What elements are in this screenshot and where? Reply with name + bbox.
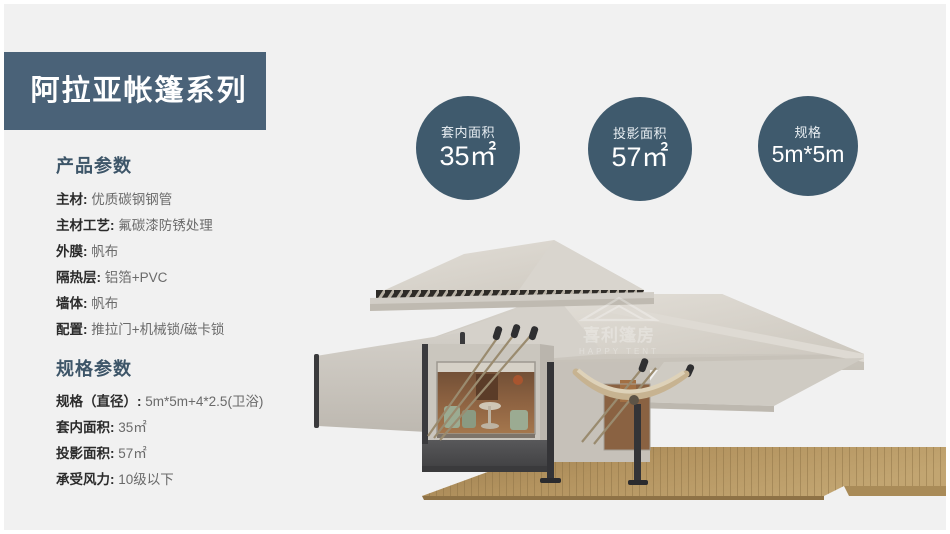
tent-upper-roof-cap [370, 240, 654, 311]
stat-label: 投影面积 [613, 127, 667, 141]
stat-badge-interior-area: 套内面积 35㎡ [416, 96, 520, 200]
spec-value: 帆布 [91, 244, 118, 259]
spec-label: 配置: [56, 322, 88, 337]
spec-label: 规格（直径）: [56, 394, 142, 409]
spec-value: 铝箔+PVC [105, 270, 168, 285]
spec-value: 57㎡ [118, 446, 147, 461]
stat-label: 套内面积 [441, 126, 495, 140]
stat-value: 35㎡ [439, 142, 496, 170]
spec-value: 帆布 [91, 296, 118, 311]
spec-value: 推拉门+机械锁/磁卡锁 [91, 322, 224, 337]
spec-value: 优质碳钢钢管 [91, 192, 172, 207]
stat-value: 57㎡ [611, 143, 668, 171]
stat-badge-projected-area: 投影面积 57㎡ [588, 97, 692, 201]
slide-canvas: 阿拉亚帐篷系列 产品参数 主材: 优质碳钢钢管 主材工艺: 氟碳漆防锈处理 外膜… [0, 0, 950, 534]
spec-label: 承受风力: [56, 472, 115, 487]
spec-label: 外膜: [56, 244, 88, 259]
spec-label: 主材工艺: [56, 218, 115, 233]
spec-value: 35㎡ [118, 420, 147, 435]
stat-label: 规格 [794, 126, 821, 140]
stat-badge-dimensions: 规格 5m*5m [758, 96, 858, 196]
spec-label: 墙体: [56, 296, 88, 311]
page-title: 阿拉亚帐篷系列 [30, 77, 247, 106]
spec-value: 氟碳漆防锈处理 [118, 218, 213, 233]
tent-render-image [304, 234, 950, 524]
spec-label: 套内面积: [56, 420, 115, 435]
spec-label: 投影面积: [56, 446, 115, 461]
product-section-heading: 产品参数 [56, 156, 356, 178]
spec-label: 主材: [56, 192, 88, 207]
title-banner: 阿拉亚帐篷系列 [4, 52, 266, 130]
stone-base [422, 440, 554, 472]
spec-label: 隔热层: [56, 270, 101, 285]
spec-value: 5m*5m+4*2.5(卫浴) [145, 394, 263, 409]
spec-value: 10级以下 [118, 472, 174, 487]
list-item: 主材: 优质碳钢钢管 [56, 187, 356, 213]
stat-value: 5m*5m [772, 142, 845, 166]
